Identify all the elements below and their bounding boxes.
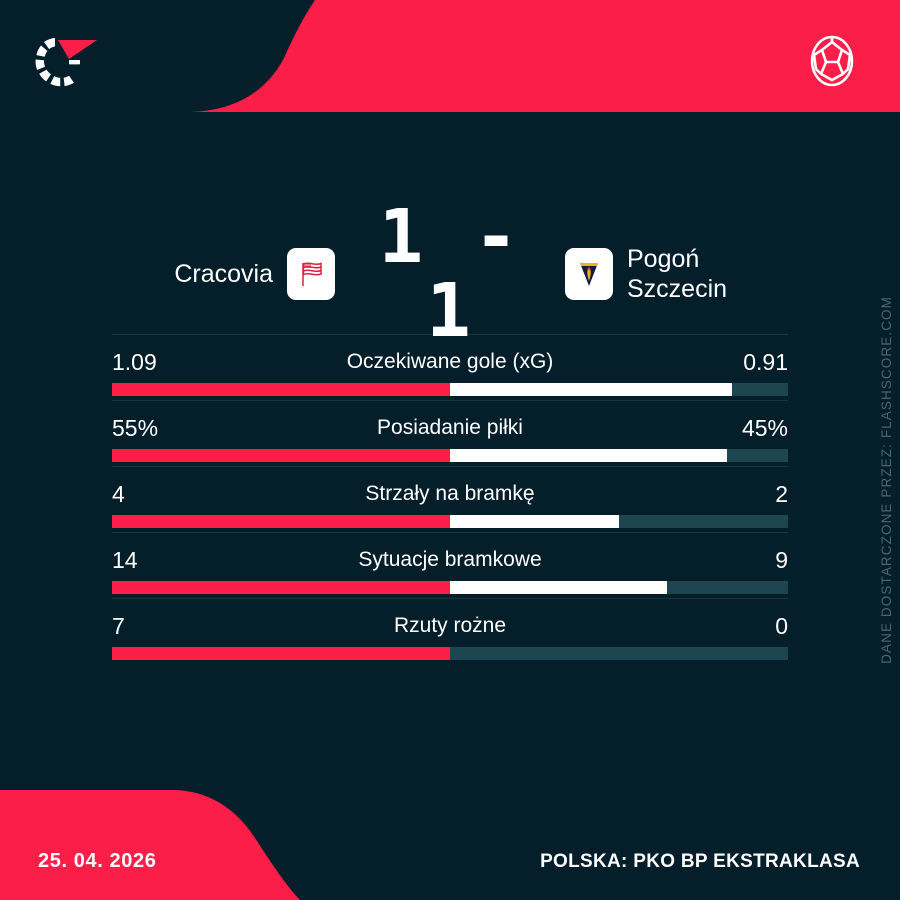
header-red-banner (0, 0, 900, 112)
scoreline: Cracovia 1 - 1 (0, 228, 900, 320)
pogon-szczecin-pennant-crest-icon (572, 257, 606, 291)
stat-away-value: 0.91 (678, 349, 788, 376)
match-date: 25. 04. 2026 (38, 850, 156, 873)
league-name: POLSKA: PKO BP EKSTRAKLASA (540, 851, 860, 873)
stat-label: Sytuacje bramkowe (222, 548, 678, 572)
stat-away-value: 0 (678, 613, 788, 640)
stat-home-value: 14 (112, 547, 222, 574)
stat-bar-away (450, 383, 732, 396)
stat-bar-home (112, 515, 450, 528)
watermark: DANE DOSTARCZONE PRZEZ: FLASHSCORE.COM (879, 296, 894, 626)
footer-red-shape (0, 790, 460, 900)
stat-label: Strzały na bramkę (222, 482, 678, 506)
watermark-text: DANE DOSTARCZONE PRZEZ: FLASHSCORE.COM (879, 296, 894, 664)
stat-home-value: 55% (112, 415, 222, 442)
stat-label: Posiadanie piłki (222, 416, 678, 440)
stat-bar-home (112, 647, 450, 660)
flashscore-logo-icon (25, 28, 107, 100)
footer: 25. 04. 2026 POLSKA: PKO BP EKSTRAKLASA (0, 790, 900, 900)
stats-list: 1.09 Oczekiwane gole (xG) 0.91 55% Posia… (112, 334, 788, 664)
away-team-name-line1: Pogoń (627, 244, 797, 274)
home-team-name: Cracovia (103, 259, 287, 289)
stat-bar-track (112, 383, 788, 396)
stat-home-value: 7 (112, 613, 222, 640)
stat-bar-home (112, 581, 450, 594)
score-value: 1 - 1 (335, 200, 565, 348)
stat-label: Oczekiwane gole (xG) (222, 350, 678, 374)
home-team-crest (287, 248, 335, 300)
stat-row: 14 Sytuacje bramkowe 9 (112, 532, 788, 598)
stat-row: 7 Rzuty rożne 0 (112, 598, 788, 664)
stat-away-value: 9 (678, 547, 788, 574)
away-team-crest (565, 248, 613, 300)
stat-bar-track (112, 449, 788, 462)
stat-home-value: 1.09 (112, 349, 222, 376)
match-stats-graphic: Cracovia 1 - 1 (0, 0, 900, 900)
stat-away-value: 45% (678, 415, 788, 442)
stat-bar-track (112, 515, 788, 528)
header (0, 0, 900, 120)
stat-row: 4 Strzały na bramkę 2 (112, 466, 788, 532)
football-ball-icon (804, 33, 860, 89)
stat-bar-track (112, 581, 788, 594)
stat-away-value: 2 (678, 481, 788, 508)
stat-bar-away (450, 581, 667, 594)
stat-bar-track (112, 647, 788, 660)
stat-home-value: 4 (112, 481, 222, 508)
stat-row: 55% Posiadanie piłki 45% (112, 400, 788, 466)
stat-label: Rzuty rożne (222, 614, 678, 638)
away-team-name-line2: Szczecin (627, 274, 797, 304)
away-team-name: Pogoń Szczecin (613, 244, 797, 304)
cracovia-flag-crest-icon (294, 257, 328, 291)
stat-bar-home (112, 383, 450, 396)
stat-bar-away (450, 449, 727, 462)
stat-row: 1.09 Oczekiwane gole (xG) 0.91 (112, 334, 788, 400)
stat-bar-away (450, 515, 619, 528)
stat-bar-home (112, 449, 450, 462)
